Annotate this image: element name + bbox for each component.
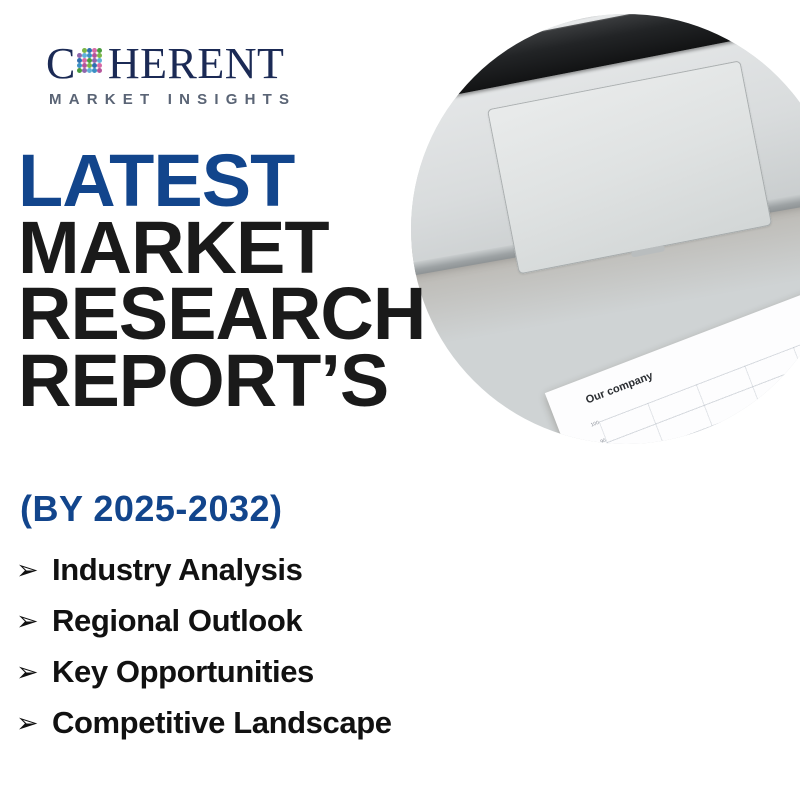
arrow-bullet-icon: ➢ <box>16 659 52 686</box>
key-b: B <box>424 14 485 45</box>
list-item-label: Key Opportunities <box>52 654 314 690</box>
arrow-bullet-icon: ➢ <box>16 557 52 584</box>
list-item: ➢ Key Opportunities <box>16 654 536 690</box>
arrow-bullet-icon: ➢ <box>16 608 52 635</box>
arrow-bullet-icon: ➢ <box>16 710 52 737</box>
headline-line-3: RESEARCH <box>18 281 418 348</box>
globe-dot <box>97 53 102 58</box>
list-item: ➢ Industry Analysis <box>16 552 536 588</box>
key-label: B <box>428 14 481 24</box>
key-label: V <box>411 14 423 35</box>
globe-dot <box>97 63 102 68</box>
year-range-subtitle: (BY 2025-2032) <box>20 488 283 530</box>
key-n: N <box>483 14 544 33</box>
globe-dot <box>97 48 102 53</box>
hero-photo: ⌘ command V B N ⌘ command <box>411 14 800 444</box>
feature-list: ➢ Industry Analysis ➢ Regional Outlook ➢… <box>16 552 536 756</box>
logo-text-herent: HERENT <box>108 42 285 86</box>
key-v: V <box>411 14 427 56</box>
globe-dot <box>97 58 102 63</box>
headline-line-1: LATEST <box>18 148 418 215</box>
logo-letter-c: C <box>46 42 76 86</box>
brand-logo[interactable]: C HERENT MARKET INSIGHTS <box>46 42 296 108</box>
headline-line-4: REPORT’S <box>18 348 418 415</box>
list-item-label: Regional Outlook <box>52 603 302 639</box>
headline-line-2: MARKET <box>18 215 418 282</box>
list-item-label: Industry Analysis <box>52 552 302 588</box>
globe-dot <box>97 68 102 73</box>
list-item-label: Competitive Landscape <box>52 705 392 741</box>
marketing-poster: ⌘ command V B N ⌘ command <box>0 0 800 800</box>
logo-tagline: MARKET INSIGHTS <box>46 91 296 108</box>
list-item: ➢ Regional Outlook <box>16 603 536 639</box>
list-item: ➢ Competitive Landscape <box>16 705 536 741</box>
page-title: LATEST MARKET RESEARCH REPORT’S <box>18 148 418 414</box>
logo-wordmark: C HERENT <box>46 42 296 86</box>
dotted-globe-icon <box>77 47 107 77</box>
